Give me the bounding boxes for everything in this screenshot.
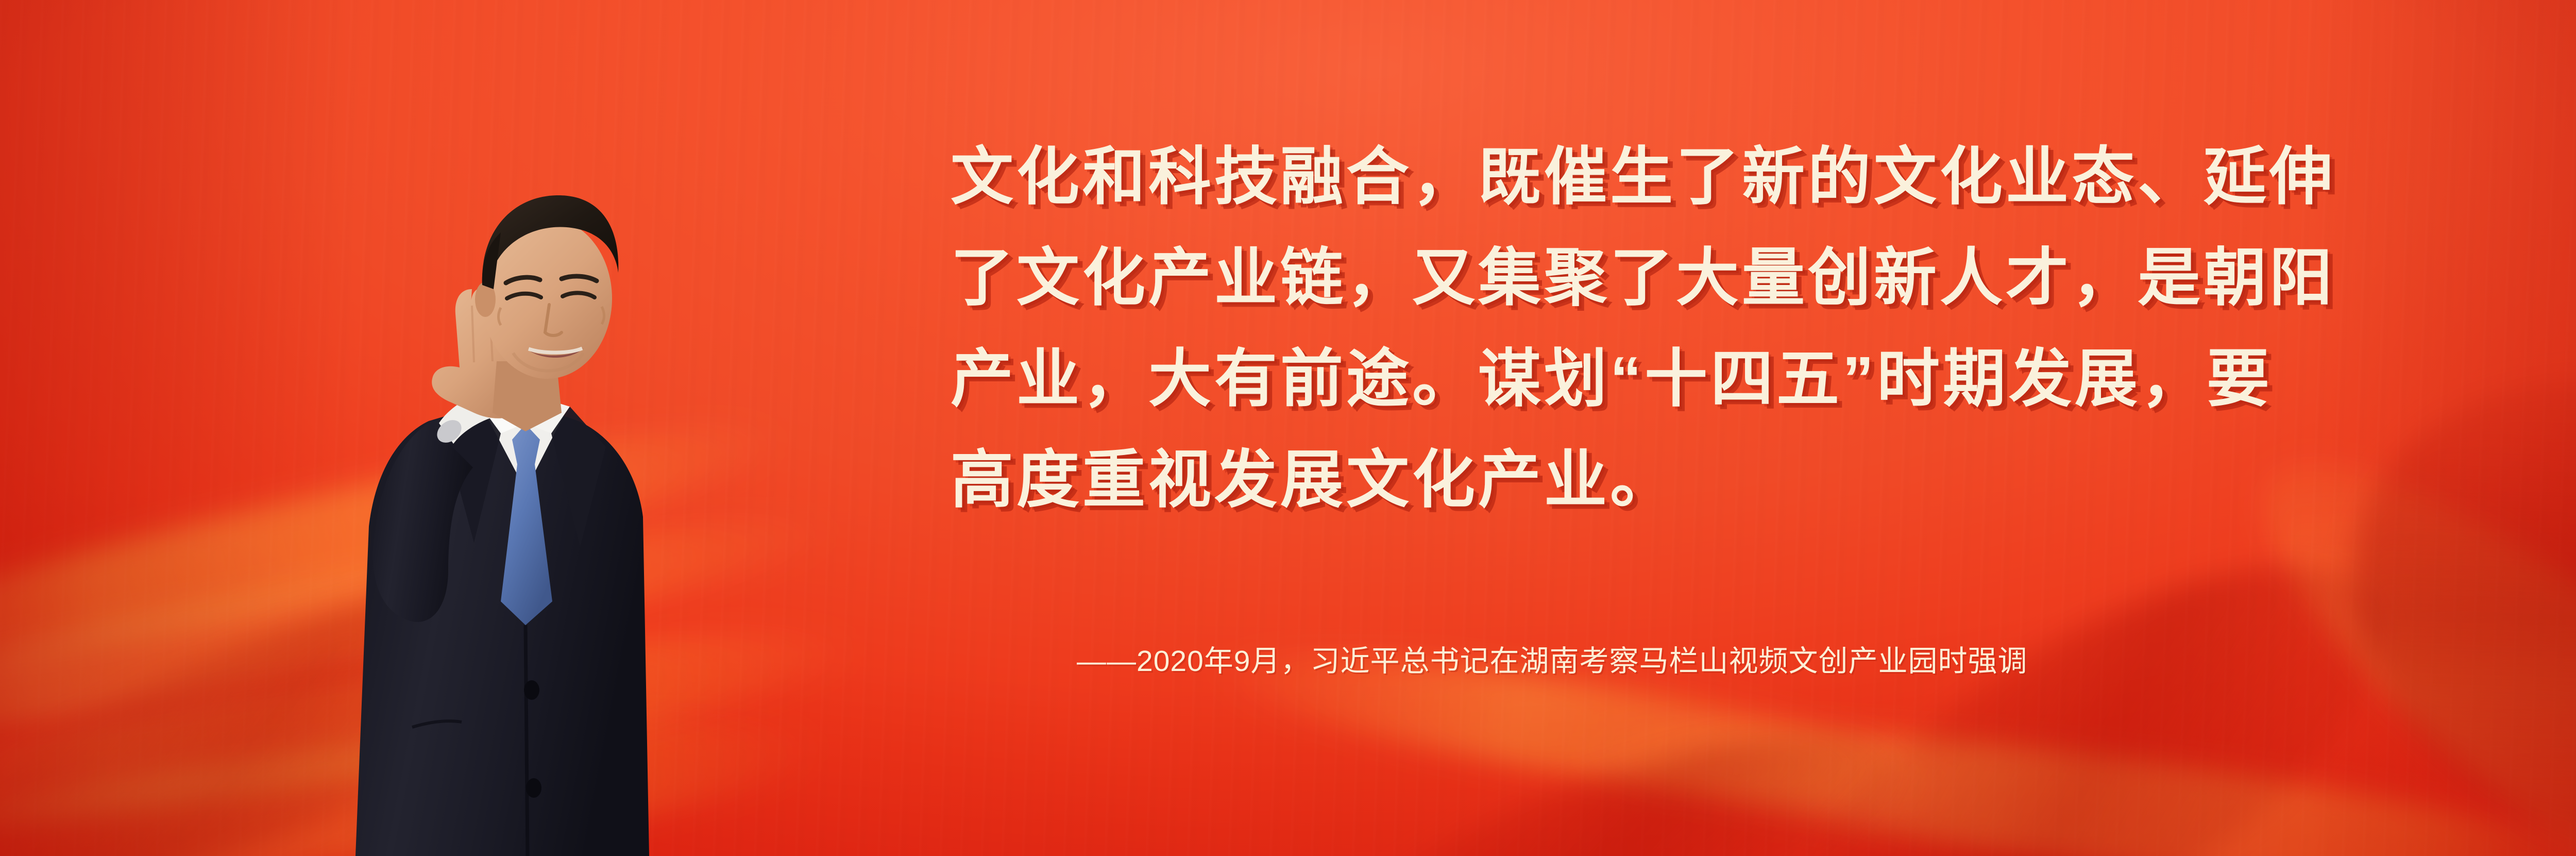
quote-line-1: 文化和科技融合，既催生了新的文化业态、延伸: [951, 126, 2429, 227]
quote-line-2: 了文化产业链，又集聚了大量创新人才，是朝阳: [951, 227, 2429, 328]
quote-line-4: 高度重视发展文化产业。: [951, 429, 2429, 530]
quote-text-block: 文化和科技融合，既催生了新的文化业态、延伸 了文化产业链，又集聚了大量创新人才，…: [951, 126, 2429, 530]
quote-attribution: ——2020年9月，习近平总书记在湖南考察马栏山视频文创产业园时强调: [1077, 641, 2028, 681]
quote-line-3: 产业，大有前途。谋划“十四五”时期发展，要: [951, 328, 2429, 429]
propaganda-banner: 文化和科技融合，既催生了新的文化业态、延伸 了文化产业链，又集聚了大量创新人才，…: [0, 0, 2576, 856]
